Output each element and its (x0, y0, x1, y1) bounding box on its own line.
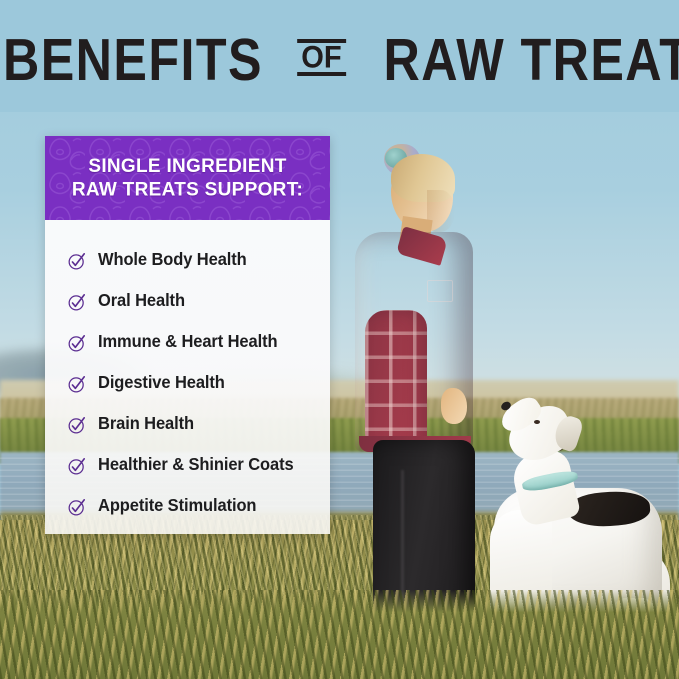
title-word-raw-treats: RAW TREATS (384, 30, 679, 89)
check-circle-icon (67, 497, 87, 517)
benefit-row-3: Digestive Health (45, 363, 330, 404)
benefit-label: Immune & Heart Health (98, 333, 277, 353)
check-circle-icon (67, 251, 87, 271)
hand (441, 388, 467, 424)
check-circle-icon (67, 456, 87, 476)
benefit-label: Whole Body Health (98, 251, 247, 271)
benefit-row-1: Oral Health (45, 281, 330, 322)
title-banner: BENEFITS OF RAW TREATS (0, 0, 679, 112)
card-header-line1: SINGLE INGREDIENT (88, 155, 286, 177)
dog-eye (534, 420, 540, 424)
infographic-canvas: BENEFITS OF RAW TREATS (0, 0, 679, 679)
title-word-of: OF (299, 39, 346, 77)
benefit-row-2: Immune & Heart Health (45, 322, 330, 363)
benefit-row-5: Healthier & Shinier Coats (45, 445, 330, 486)
benefit-label: Brain Health (98, 415, 194, 435)
page-title: BENEFITS OF RAW TREATS (0, 30, 679, 87)
title-word-benefits: BENEFITS (3, 30, 263, 89)
card-header-text: SINGLE INGREDIENT RAW TREATS SUPPORT: (72, 154, 303, 202)
benefit-label: Healthier & Shinier Coats (98, 456, 294, 476)
benefits-list: Whole Body Health Oral Health Immune & H… (45, 220, 330, 527)
benefit-label: Oral Health (98, 292, 185, 312)
shirt-pocket (427, 280, 453, 302)
check-circle-icon (67, 415, 87, 435)
check-circle-icon (67, 292, 87, 312)
benefits-card: SINGLE INGREDIENT RAW TREATS SUPPORT: Wh… (45, 136, 330, 534)
arm (365, 310, 427, 455)
card-header-line2: RAW TREATS SUPPORT: (72, 178, 303, 202)
benefit-label: Appetite Stimulation (98, 497, 256, 517)
title-of-text: OF (302, 42, 342, 74)
check-circle-icon (67, 333, 87, 353)
benefit-row-6: Appetite Stimulation (45, 486, 330, 527)
check-circle-icon (67, 374, 87, 394)
foreground-grass (0, 590, 679, 679)
card-header: SINGLE INGREDIENT RAW TREATS SUPPORT: (45, 136, 330, 220)
benefit-row-4: Brain Health (45, 404, 330, 445)
benefit-label: Digestive Health (98, 374, 225, 394)
benefit-row-0: Whole Body Health (45, 240, 330, 281)
